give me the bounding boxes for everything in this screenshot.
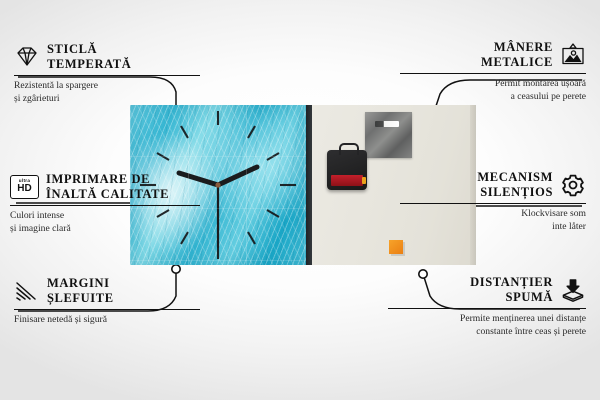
callout-foam-spacer: DISTANȚIER SPUMĂ Permite menținerea unei…	[388, 275, 586, 338]
callout-title-line2: SPUMĂ	[470, 290, 553, 305]
clock-mechanism-part	[327, 150, 367, 190]
ultra-hd-badge-icon: ultra HD	[10, 175, 39, 199]
callout-desc-line1: Permite menținerea unei distanțe	[388, 313, 586, 326]
diagonal-stripes-icon	[14, 279, 40, 303]
callout-desc-line2: inte låter	[400, 221, 586, 234]
callout-title-line1: MARGINI	[47, 276, 114, 291]
glass-side-edge	[306, 105, 312, 265]
connector-dot-edges	[172, 265, 180, 273]
foam-spacer-part	[389, 240, 403, 254]
press-down-pad-icon	[560, 278, 586, 302]
callout-title-line2: TEMPERATĂ	[47, 57, 131, 72]
callout-desc-line1: Finisare netedă și sigură	[14, 314, 200, 327]
callout-title-line2: METALICE	[481, 55, 553, 70]
callout-desc-line1: Klockvisare som	[400, 208, 586, 221]
callout-rule	[400, 73, 586, 75]
callout-title-line2: SILENȚIOS	[477, 185, 553, 200]
callout-desc-line2: a ceasului pe perete	[400, 91, 586, 104]
callout-desc-line1: Rezistentă la spargere	[14, 80, 200, 93]
diamond-icon	[14, 45, 40, 69]
callout-desc-line1: Permit montarea ușoară	[400, 78, 586, 91]
battery-part	[331, 175, 363, 186]
picture-frame-icon	[560, 43, 586, 67]
callout-title-line1: MECANISM	[477, 170, 553, 185]
callout-title-line1: STICLĂ	[47, 42, 131, 57]
metal-hanger-part	[365, 112, 412, 158]
callout-rule	[14, 309, 200, 311]
callout-title-line1: IMPRIMARE DE	[46, 172, 169, 187]
callout-rule	[14, 75, 200, 77]
callout-metal-handles: MÂNERE METALICE Permit montarea ușoară a…	[400, 40, 586, 103]
callout-title-line1: DISTANȚIER	[470, 275, 553, 290]
callout-silent-mechanism: MECANISM SILENȚIOS Klockvisare som inte …	[400, 170, 586, 233]
callout-rule	[388, 308, 586, 310]
callout-title-line2: ȘLEFUITE	[47, 291, 114, 306]
callout-title-line1: MÂNERE	[481, 40, 553, 55]
callout-title-line2: ÎNALTĂ CALITATE	[46, 187, 169, 202]
infographic-stage: STICLĂ TEMPERATĂ Rezistentă la spargere …	[0, 0, 600, 400]
hanger-slot	[375, 121, 399, 127]
callout-polished-edges: MARGINI ȘLEFUITE Finisare netedă și sigu…	[14, 276, 200, 327]
callout-desc-line2: constante între ceas și perete	[388, 326, 586, 339]
callout-desc-line1: Culori intense	[10, 210, 200, 223]
callout-rule	[10, 205, 200, 207]
clock-minute-hand	[218, 167, 257, 185]
clock-center-cap	[215, 182, 220, 187]
callout-rule	[400, 203, 586, 205]
callout-desc-line2: și imagine clară	[10, 223, 200, 236]
callout-desc-line2: și zgârieturi	[14, 93, 200, 106]
callout-tempered-glass: STICLĂ TEMPERATĂ Rezistentă la spargere …	[14, 42, 200, 105]
gear-icon	[560, 173, 586, 197]
badge-main-text: HD	[17, 184, 31, 194]
mechanism-hook	[339, 143, 359, 155]
callout-high-quality-print: ultra HD IMPRIMARE DE ÎNALTĂ CALITATE Cu…	[10, 172, 200, 235]
